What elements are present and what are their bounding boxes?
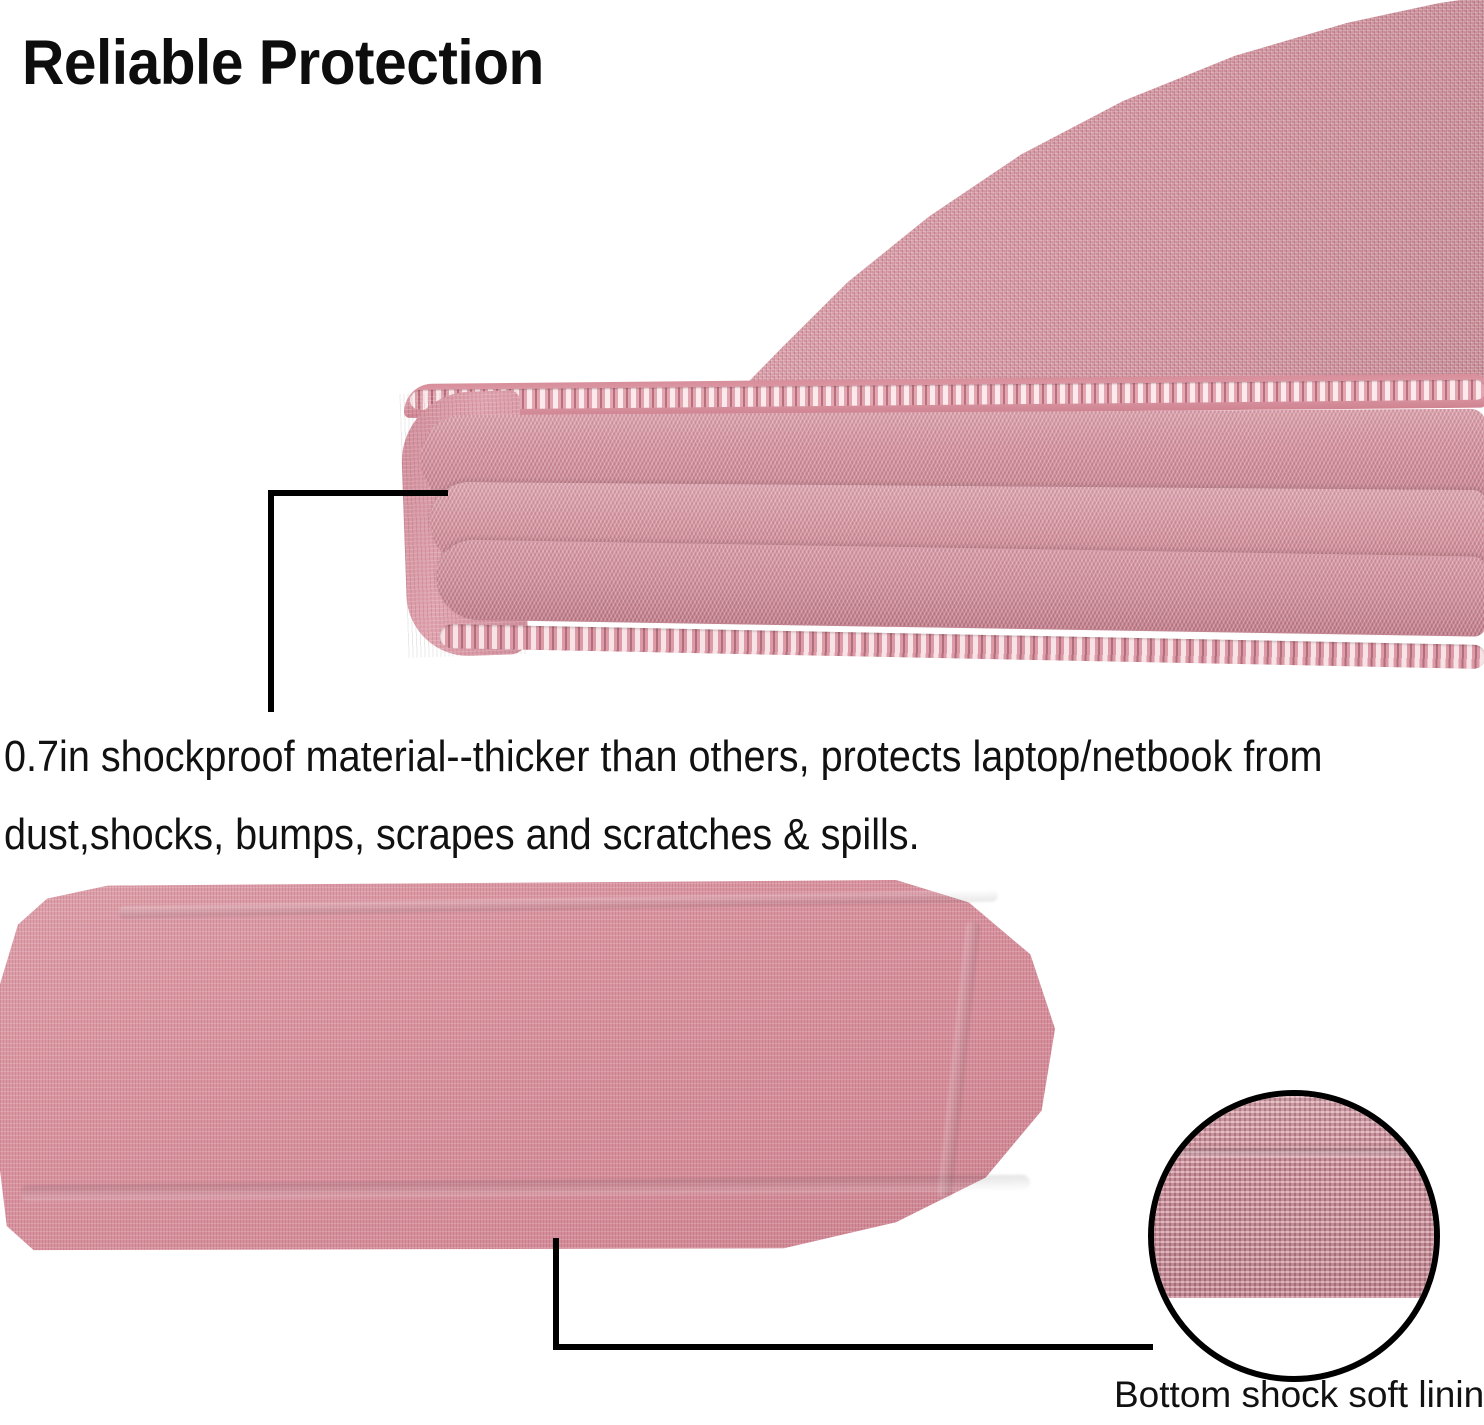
leader-line-top-horizontal: [268, 490, 448, 496]
feature-description: 0.7in shockproof material--thicker than …: [4, 718, 1334, 874]
canvas-weave-texture: [470, 0, 1484, 406]
feature-description-line-1: 0.7in shockproof material--thicker than …: [4, 718, 1334, 796]
product-feature-image: Reliable Protection 0.7in shockproof mat…: [0, 0, 1484, 1425]
magnifier-caption: Bottom shock soft lining: [1114, 1374, 1484, 1416]
bottom-product-photo: [0, 880, 1180, 1280]
leader-line-bottom-vertical: [553, 1238, 559, 1350]
padding-band-lower: [435, 539, 1484, 636]
lining-knit-texture: [1154, 1096, 1434, 1298]
top-product-photo: [0, 0, 1484, 690]
herringbone-texture: [435, 539, 1484, 636]
leader-line-top-vertical: [268, 490, 274, 712]
sleeve-lid-flap: [470, 0, 1484, 406]
feature-description-line-2: dust,shocks, bumps, scrapes and scratche…: [4, 796, 1334, 874]
magnifier-circle: [1148, 1090, 1440, 1382]
lining-seam-line: [1154, 1148, 1434, 1157]
lining-fabric-closeup: [1154, 1096, 1434, 1298]
leader-line-bottom-horizontal: [553, 1344, 1153, 1350]
